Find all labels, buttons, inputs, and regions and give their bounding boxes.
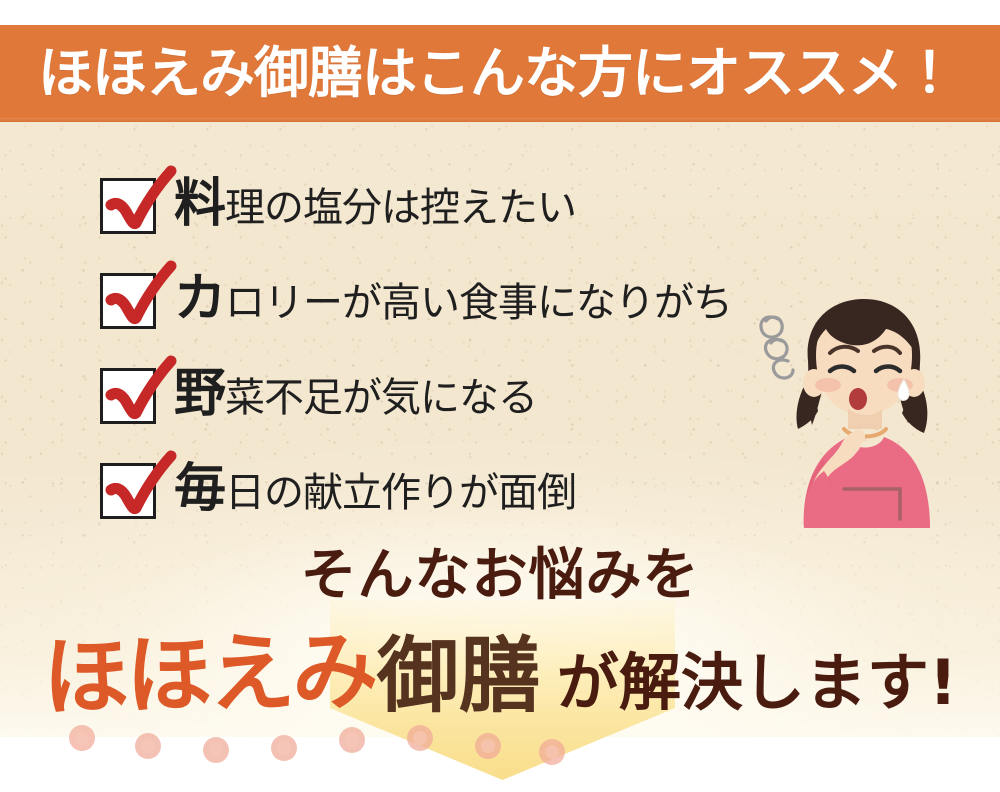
checklist-item[interactable]: 毎日の献立作りが面倒 (100, 461, 800, 556)
check-mark-icon (101, 355, 179, 431)
check-mark-icon (101, 450, 179, 526)
pink-flower-dots-decor (60, 712, 600, 772)
main-headline: ほほえみ御膳が解決します! (0, 632, 1000, 718)
banner-title: ほほえみ御膳はこんな方にオススメ！ (0, 46, 956, 101)
checklist-item[interactable]: 料理の塩分は控えたい (100, 176, 800, 271)
brand-name-kanji: 御膳 (377, 636, 541, 718)
check-mark-icon (101, 260, 179, 336)
header-banner: ほほえみ御膳はこんな方にオススメ！ (0, 25, 1000, 122)
mouth-open (849, 388, 867, 410)
checklist-item[interactable]: 野菜不足が気になる (100, 366, 800, 461)
checkbox-checked[interactable] (100, 463, 156, 519)
checkbox-checked[interactable] (100, 178, 156, 234)
checklist-lead-char: 毎 (174, 459, 225, 519)
blush-left (815, 378, 841, 392)
checklist: 料理の塩分は控えたい カロリーが高い食事になりがち 野菜不足が気になる (100, 176, 800, 556)
headline-tail-text: が解決します! (557, 652, 957, 714)
checklist-item-text: カロリーが高い食事になりがち (174, 271, 732, 325)
checklist-item[interactable]: カロリーが高い食事になりがち (100, 271, 800, 366)
checklist-item-text: 料理の塩分は控えたい (174, 176, 576, 230)
promo-banner-canvas: ほほえみ御膳はこんな方にオススメ！ 料理の塩分は控えたい カロリーが高い食事にな… (0, 0, 1000, 792)
checklist-rest-text: 理の塩分は控えたい (225, 185, 576, 231)
check-mark-icon (101, 165, 179, 241)
checkbox-checked[interactable] (100, 273, 156, 329)
checklist-lead-char: 野 (174, 364, 225, 424)
checklist-rest-text: ロリーが高い食事になりがち (225, 280, 732, 326)
checklist-item-text: 野菜不足が気になる (174, 366, 537, 420)
checklist-rest-text: 日の献立作りが面倒 (225, 470, 576, 516)
worried-woman-illustration (748, 283, 978, 528)
checkbox-checked[interactable] (100, 368, 156, 424)
sub-headline: そんなお悩みを (0, 548, 1000, 604)
checklist-lead-char: カ (174, 269, 225, 329)
trouble-spiral-icon (761, 317, 793, 378)
checklist-rest-text: 菜不足が気になる (225, 375, 537, 421)
finger (854, 429, 865, 444)
checklist-lead-char: 料 (174, 174, 225, 234)
brand-name-kana: ほほえみ (42, 629, 376, 722)
checklist-item-text: 毎日の献立作りが面倒 (174, 461, 576, 515)
